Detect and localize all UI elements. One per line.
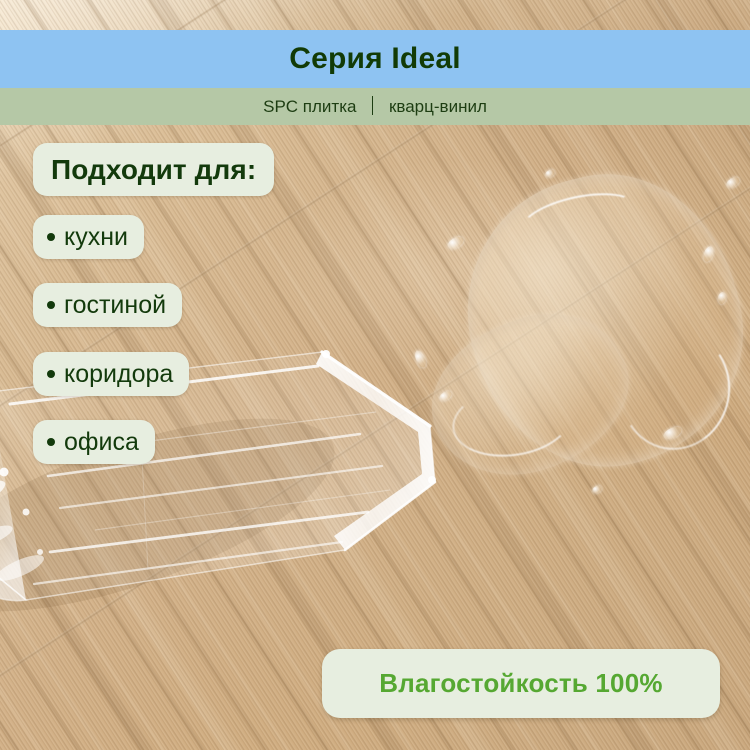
subtitle: SPC плитка кварц-винил [263, 96, 487, 117]
waterproof-badge: Влагостойкость 100% [322, 649, 720, 718]
subtitle-right: кварц-винил [389, 97, 487, 116]
suitable-item-label: кухни [64, 223, 128, 252]
suitable-item-label: коридора [64, 360, 173, 389]
bullet-dot-icon [47, 301, 55, 309]
suitable-item-hallway: коридора [33, 352, 189, 396]
waterproof-badge-label: Влагостойкость 100% [379, 668, 662, 699]
suitable-item-label: офиса [64, 428, 139, 457]
suitable-heading-label: Подходит для: [51, 154, 256, 186]
bullet-dot-icon [47, 233, 55, 241]
suitable-heading-pill: Подходит для: [33, 143, 274, 196]
suitable-item-kitchen: кухни [33, 215, 144, 259]
subtitle-band: SPC плитка кварц-винил [0, 88, 750, 125]
title-band: Серия Ideal [0, 30, 750, 88]
suitable-item-label: гостиной [64, 291, 166, 320]
promo-image: Серия Ideal SPC плитка кварц-винил Подхо… [0, 0, 750, 750]
subtitle-left: SPC плитка [263, 97, 356, 116]
suitable-item-living-room: гостиной [33, 283, 182, 327]
subtitle-divider [372, 96, 373, 115]
suitable-item-office: офиса [33, 420, 155, 464]
bullet-dot-icon [47, 370, 55, 378]
page-title: Серия Ideal [289, 42, 461, 76]
bullet-dot-icon [47, 438, 55, 446]
